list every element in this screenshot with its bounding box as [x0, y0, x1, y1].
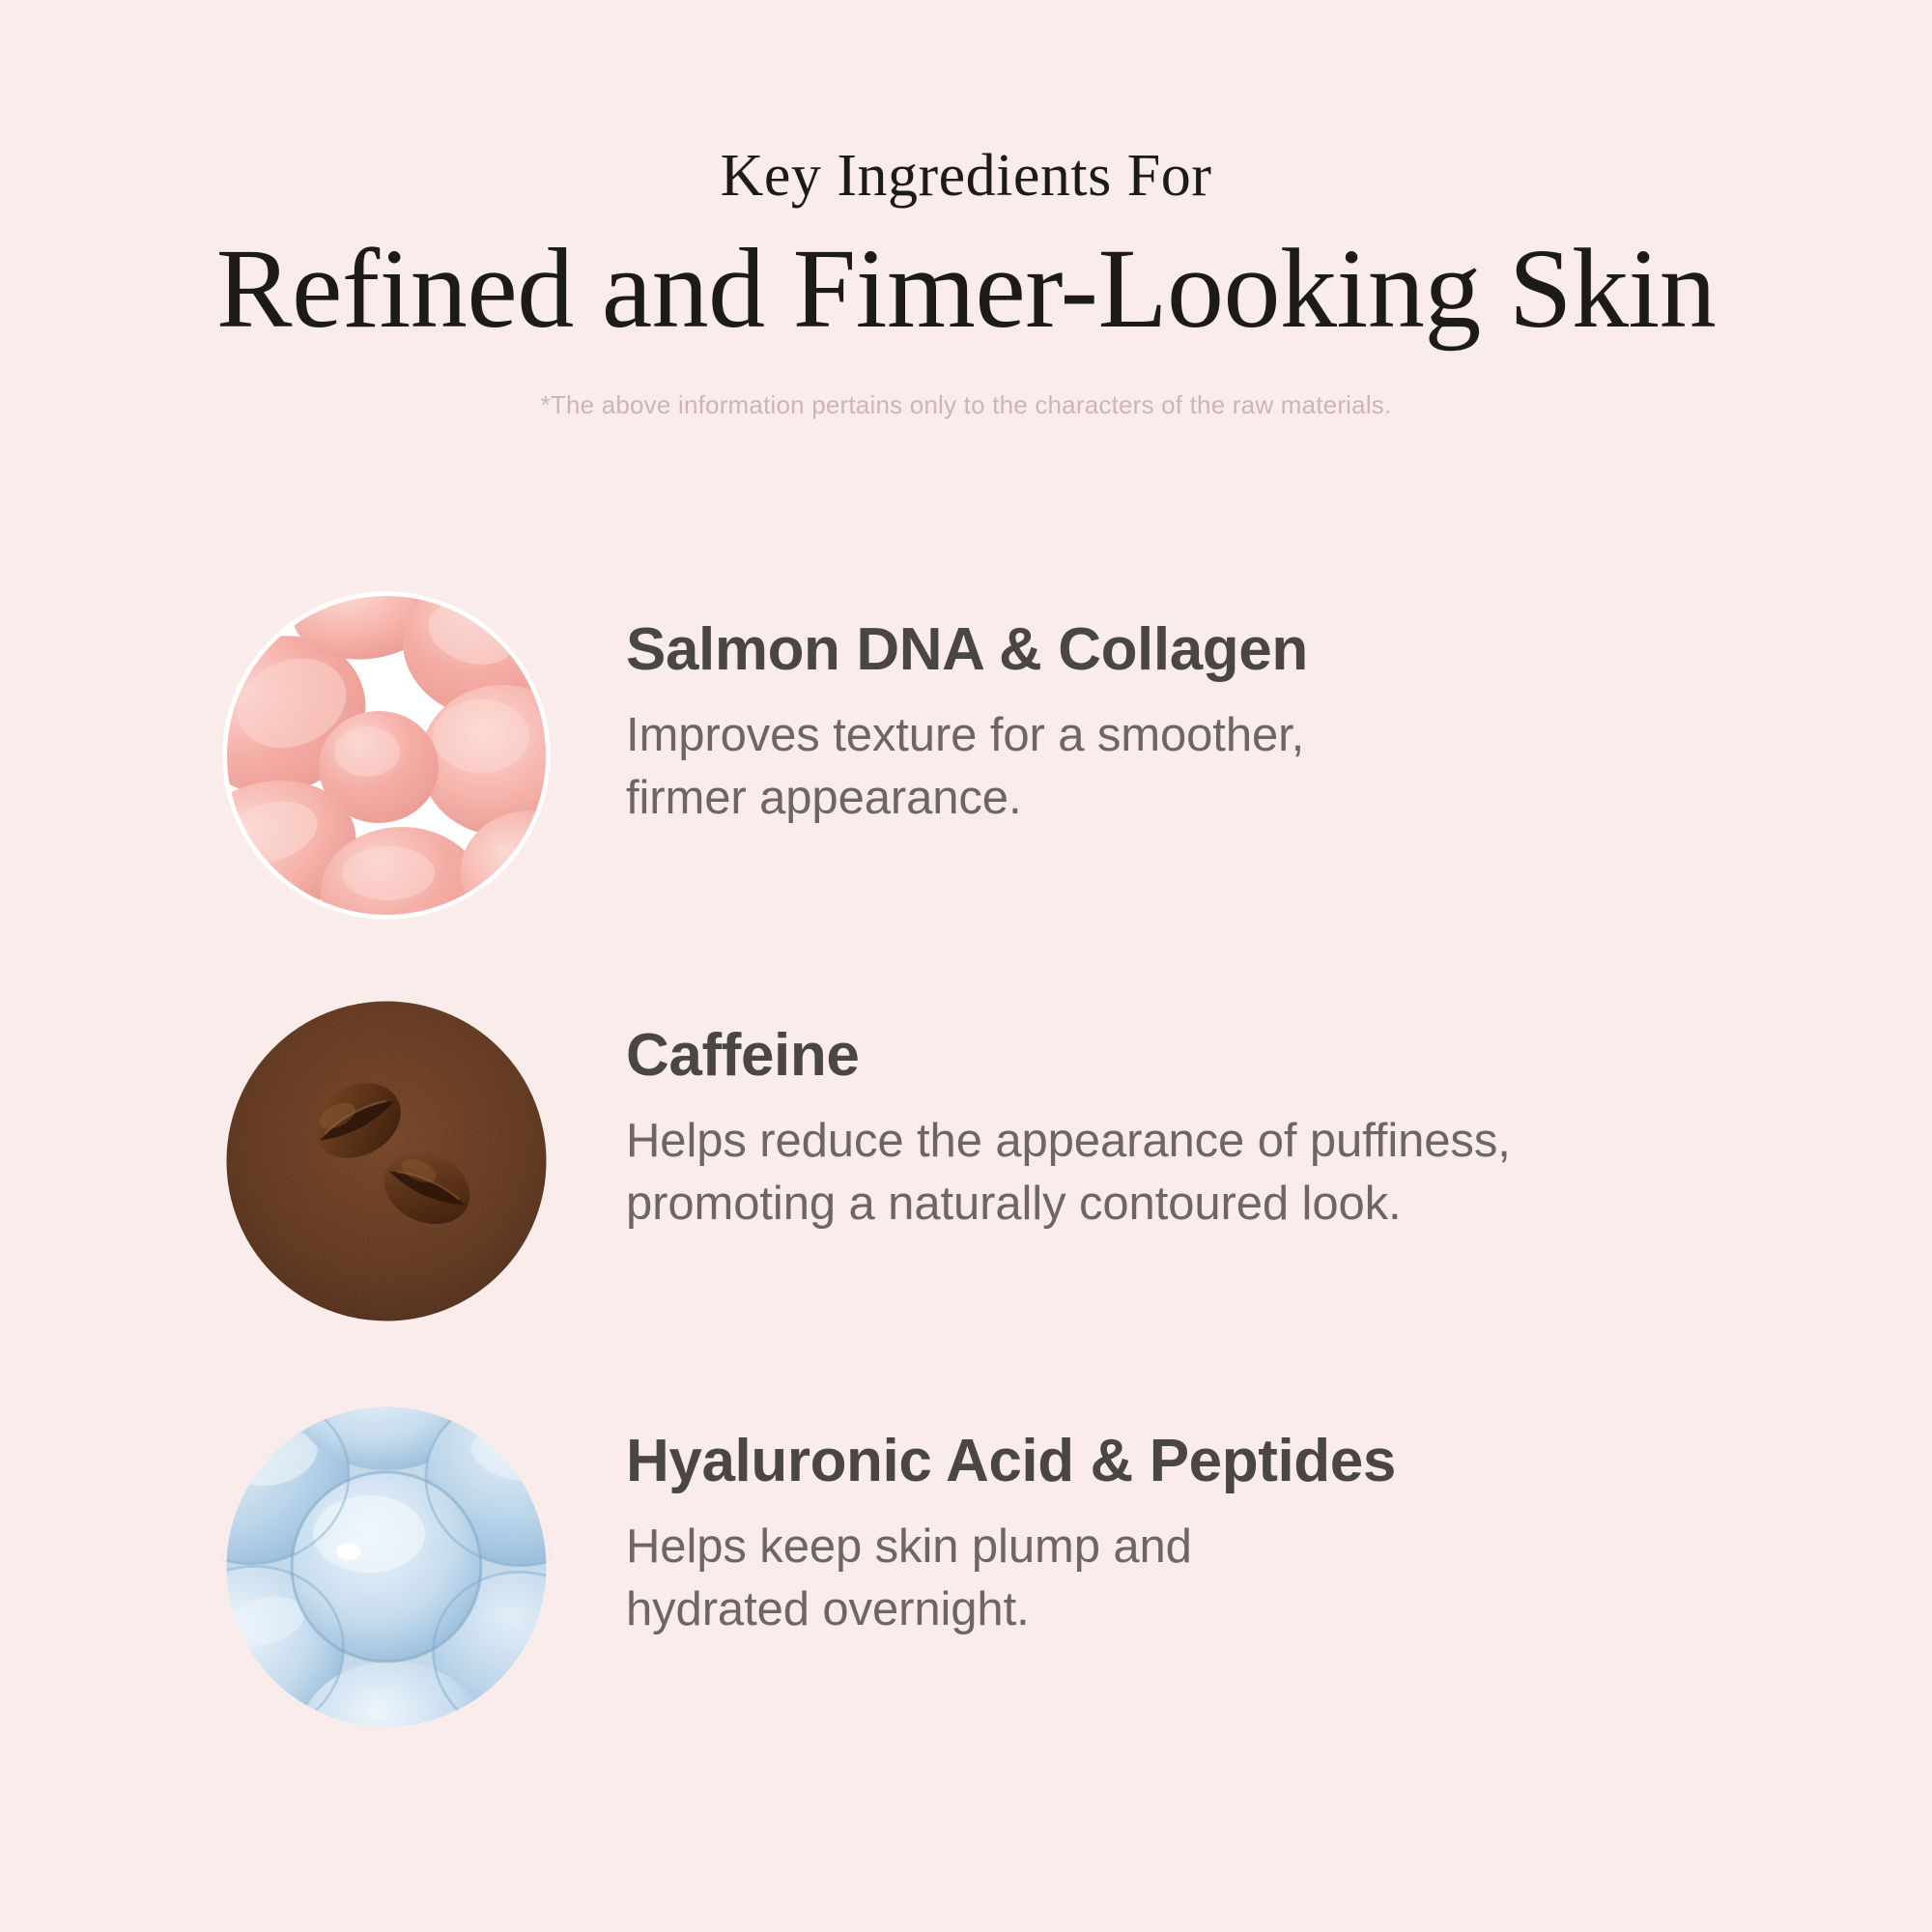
ingredient-copy: Hyaluronic Acid & Peptides Helps keep sk… [626, 1403, 1396, 1641]
ingredient-image-coffee [222, 997, 551, 1325]
ingredient-description: Improves texture for a smoother, firmer … [626, 704, 1308, 830]
blue-spheres-graphic [222, 1403, 551, 1731]
coffee-grounds-graphic [222, 997, 551, 1325]
ingredient-list: Salmon DNA & Collagen Improves texture f… [0, 591, 1932, 1808]
ingredient-copy: Caffeine Helps reduce the appearance of … [626, 997, 1511, 1236]
header-block: Key Ingredients For Refined and Fimer-Lo… [0, 145, 1932, 422]
ingredient-title: Salmon DNA & Collagen [626, 618, 1308, 683]
ingredient-title: Hyaluronic Acid & Peptides [626, 1430, 1396, 1494]
ingredient-row: Hyaluronic Acid & Peptides Helps keep sk… [0, 1403, 1932, 1808]
disclaimer-text: *The above information pertains only to … [0, 389, 1932, 422]
ingredient-image-blue-spheres [222, 1403, 551, 1731]
eyebrow-text: Key Ingredients For [0, 145, 1932, 208]
ingredient-copy: Salmon DNA & Collagen Improves texture f… [626, 591, 1308, 830]
ingredient-title: Caffeine [626, 1024, 1511, 1089]
page-title: Refined and Fimer-Looking Skin [0, 225, 1932, 353]
ingredient-row: Caffeine Helps reduce the appearance of … [0, 997, 1932, 1403]
pink-spheres-graphic [222, 591, 551, 920]
ingredients-infographic: Key Ingredients For Refined and Fimer-Lo… [0, 0, 1932, 1932]
ingredient-row: Salmon DNA & Collagen Improves texture f… [0, 591, 1932, 997]
ingredient-image-pink-spheres [222, 591, 551, 920]
ingredient-description: Helps reduce the appearance of puffiness… [626, 1110, 1511, 1236]
ingredient-description: Helps keep skin plump and hydrated overn… [626, 1516, 1396, 1641]
